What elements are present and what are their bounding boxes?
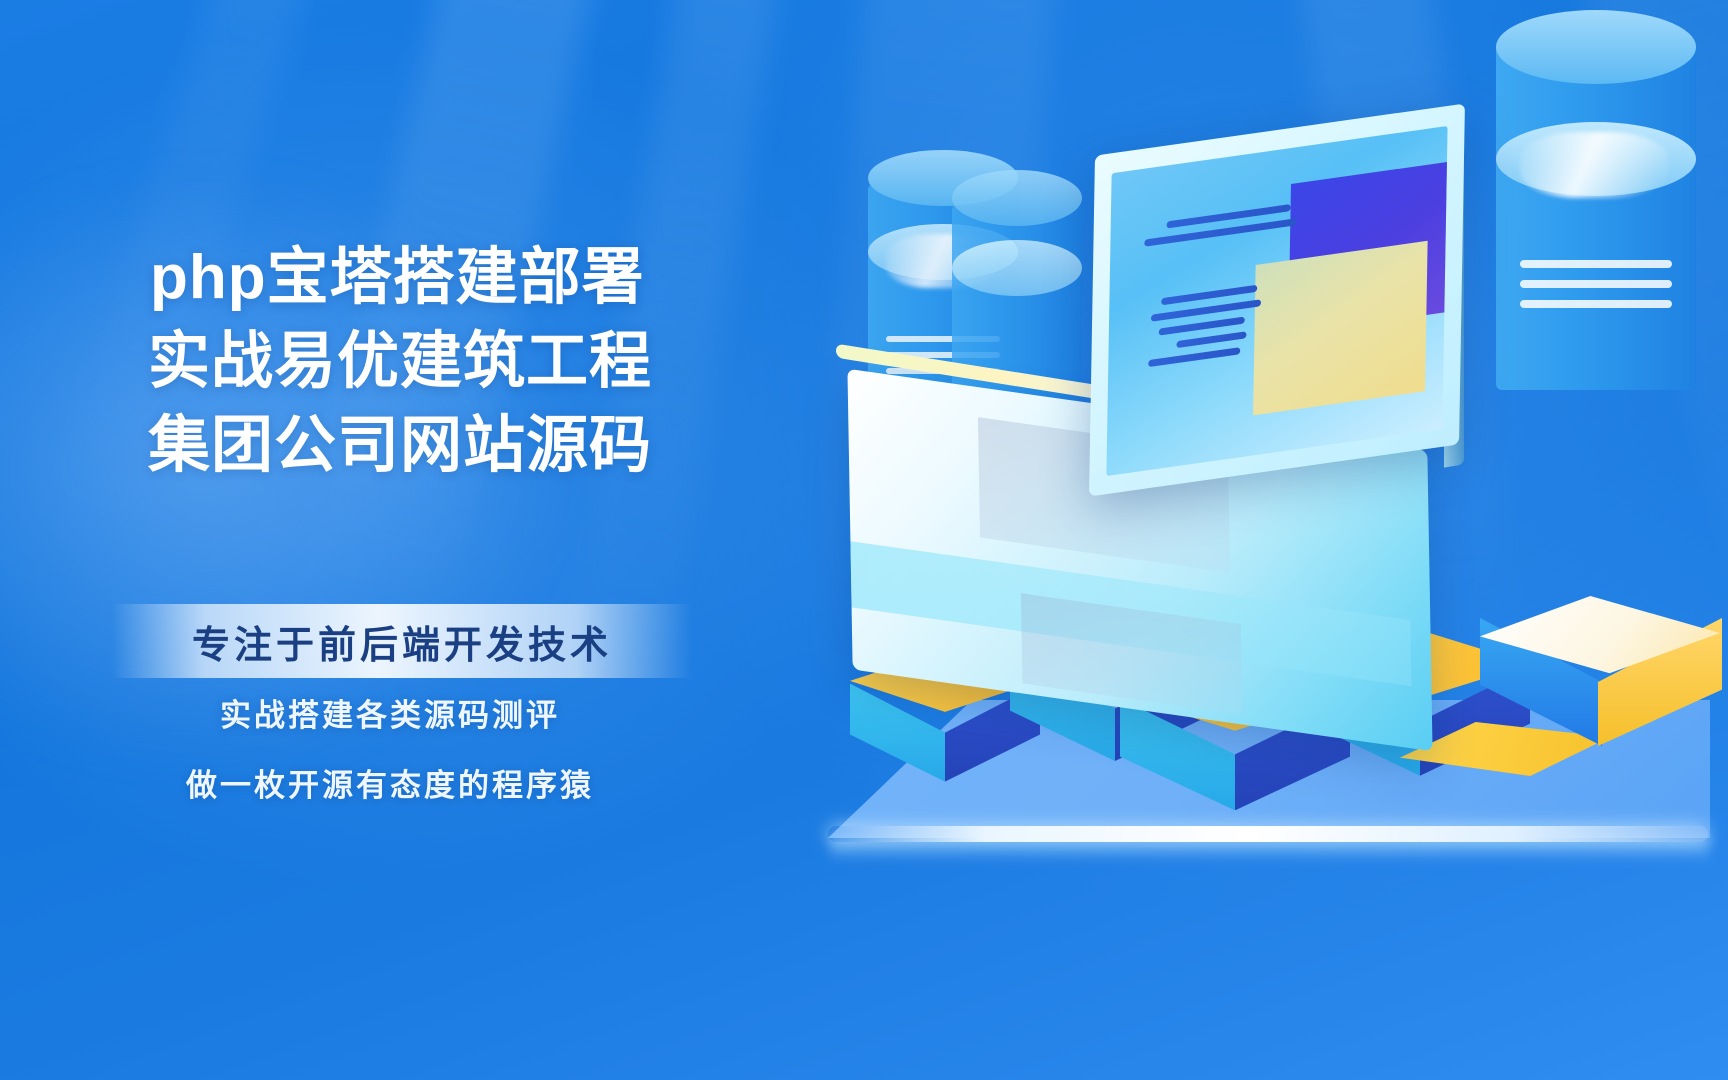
screen-text-line bbox=[1176, 331, 1246, 348]
slab-glow-edge bbox=[828, 826, 1708, 842]
cylinder-sheen bbox=[1520, 132, 1668, 198]
subtitle-text: 专注于前后端开发技术 bbox=[192, 614, 612, 669]
headline-line-2: 实战易优建筑工程 bbox=[148, 320, 668, 404]
laptop-lid bbox=[1089, 103, 1465, 496]
hero-illustration bbox=[790, 0, 1728, 1080]
headline-line-1: php宝塔搭建部署 bbox=[148, 236, 668, 320]
screen-text-lines-top bbox=[1166, 203, 1297, 251]
laptop-screen bbox=[1106, 126, 1447, 476]
tagline-2: 做一枚开源有态度的程序猿 bbox=[140, 760, 640, 805]
podium-cube bbox=[1480, 596, 1720, 766]
open-laptop bbox=[810, 110, 1470, 730]
screen-text-line bbox=[1148, 347, 1240, 367]
cylinder-stripe bbox=[1520, 280, 1672, 288]
text-column: php宝塔搭建部署 实战易优建筑工程 集团公司网站源码 专注于前后端开发技术 实… bbox=[0, 0, 740, 1080]
subtitle-band: 专注于前后端开发技术 bbox=[112, 604, 692, 678]
screen-text-lines-body bbox=[1142, 284, 1261, 376]
screen-cream-block bbox=[1253, 241, 1428, 416]
headline: php宝塔搭建部署 实战易优建筑工程 集团公司网站源码 bbox=[148, 236, 668, 488]
cylinder-stripe bbox=[1520, 260, 1672, 268]
cylinder-stripe bbox=[1520, 300, 1672, 308]
cylinder-disc bbox=[1496, 10, 1696, 84]
tagline-1: 实战搭建各类源码测评 bbox=[140, 690, 640, 735]
cylinder-body bbox=[1496, 44, 1696, 390]
database-cylinder-right bbox=[1496, 10, 1696, 390]
promo-banner: php宝塔搭建部署 实战易优建筑工程 集团公司网站源码 专注于前后端开发技术 实… bbox=[0, 0, 1728, 1080]
headline-line-3: 集团公司网站源码 bbox=[148, 404, 668, 488]
